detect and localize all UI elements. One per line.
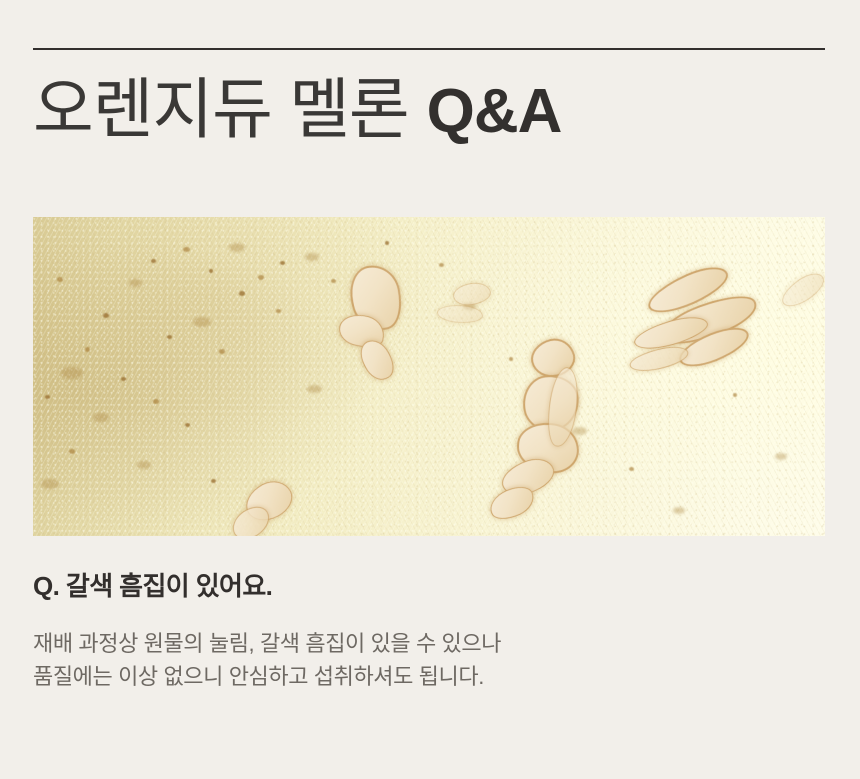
product-detail-qa-page: 오렌지듀 멜론Q&A (0, 0, 860, 779)
melon-rind-freckles (33, 217, 825, 536)
header-divider (33, 48, 825, 50)
page-title-light: 오렌지듀 멜론 (33, 72, 409, 146)
qa-answer-line: 재배 과정상 원물의 눌림, 갈색 흠집이 있을 수 있으나 (33, 627, 501, 660)
qa-answer: 재배 과정상 원물의 눌림, 갈색 흠집이 있을 수 있으나 품질에는 이상 없… (33, 627, 501, 694)
qa-question: Q. 갈색 흠집이 있어요. (33, 566, 272, 603)
qa-answer-line: 품질에는 이상 없으니 안심하고 섭취하셔도 됩니다. (33, 660, 501, 693)
melon-rind-photo (33, 217, 825, 536)
page-title: 오렌지듀 멜론Q&A (33, 76, 833, 143)
page-title-bold: Q&A (427, 77, 562, 146)
